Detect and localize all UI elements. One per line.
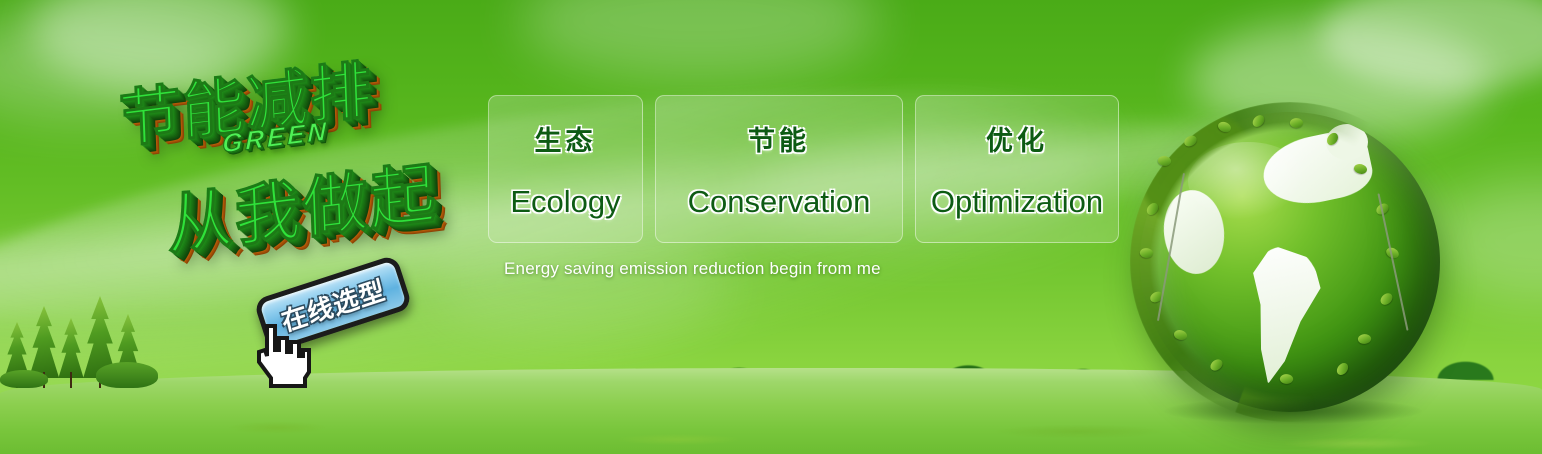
hand-pointer-icon bbox=[245, 316, 315, 394]
feature-card-conservation[interactable]: 节能 Conservation bbox=[655, 95, 903, 243]
feature-card-title-cn: 节能 bbox=[748, 119, 810, 158]
feature-card-list: 生态 Ecology 节能 Conservation 优化 Optimizati… bbox=[488, 95, 1119, 243]
feature-card-title-en: Optimization bbox=[931, 184, 1103, 220]
feature-card-title-cn: 优化 bbox=[986, 119, 1048, 158]
feature-card-optimization[interactable]: 优化 Optimization bbox=[915, 95, 1119, 243]
headline-3d: 节能减排 GREEN 从我做起 bbox=[104, 44, 484, 274]
cloud-icon bbox=[520, 0, 880, 80]
feature-card-title-en: Conservation bbox=[688, 184, 871, 220]
globe-shadow bbox=[1164, 398, 1422, 424]
bush-icon bbox=[0, 370, 48, 388]
feature-card-ecology[interactable]: 生态 Ecology bbox=[488, 95, 643, 243]
feature-card-title-en: Ecology bbox=[510, 184, 620, 220]
pine-tree-group bbox=[0, 288, 150, 388]
ivy-globe-icon bbox=[1140, 112, 1440, 412]
tagline-text: Energy saving emission reduction begin f… bbox=[504, 259, 881, 279]
eco-promo-banner: 节能减排 GREEN 从我做起 在线选型 生态 Ecology 节能 Conse… bbox=[0, 0, 1542, 454]
bush-icon bbox=[96, 362, 158, 388]
feature-card-title-cn: 生态 bbox=[535, 119, 597, 158]
headline-line-2: 从我做起 bbox=[165, 139, 438, 268]
